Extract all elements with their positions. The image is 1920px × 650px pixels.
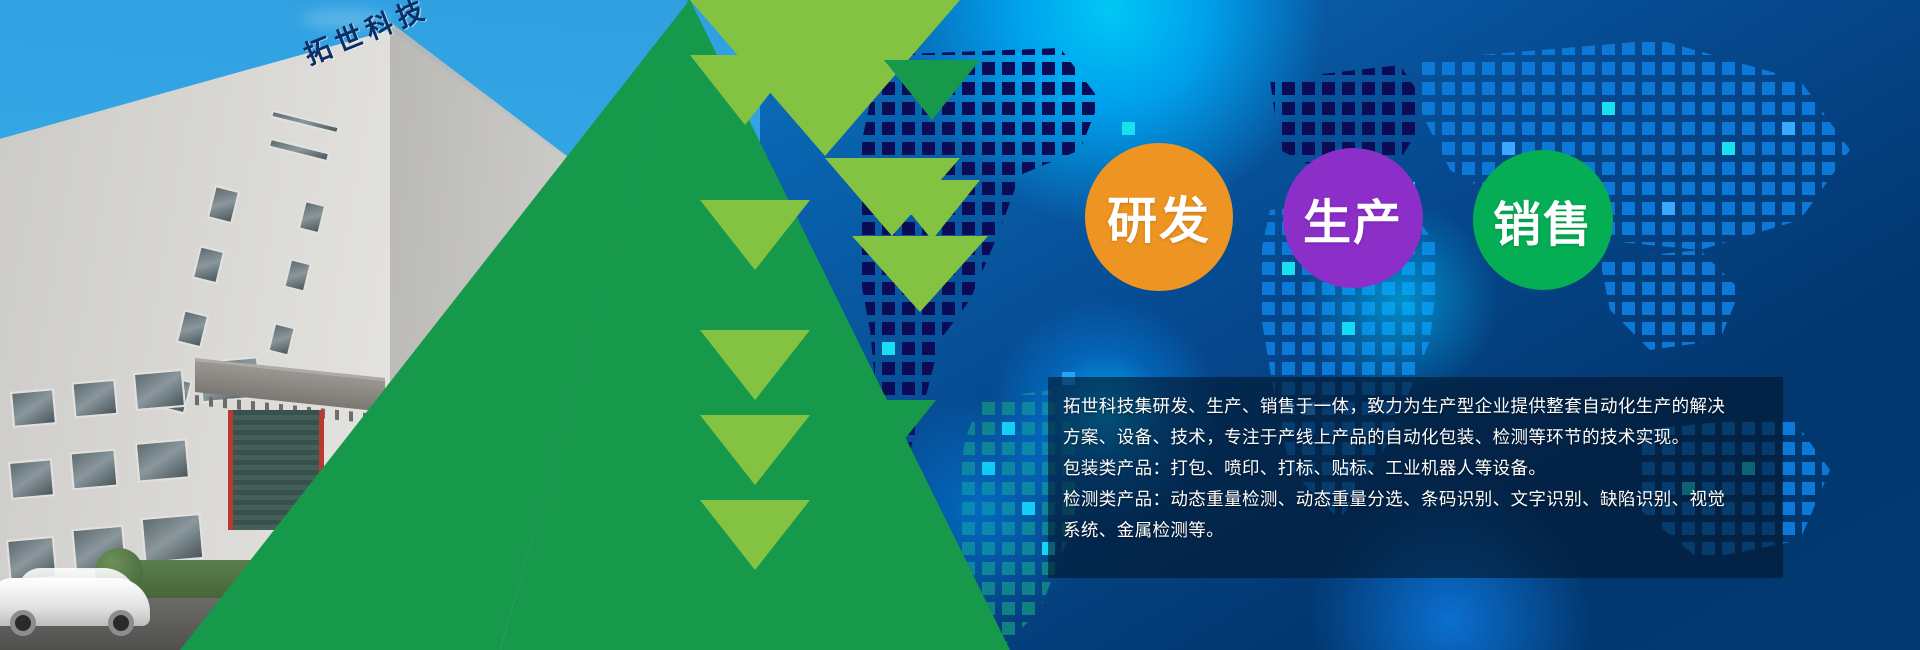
description-line-4: 检测类产品：动态重量检测、动态重量分选、条码识别、文字识别、缺陷识别、视觉	[1063, 485, 1783, 516]
description-line-3: 包装类产品：打包、喷印、打标、贴标、工业机器人等设备。	[1063, 454, 1783, 485]
description-line-2: 方案、设备、技术，专注于产线上产品的自动化包装、检测等环节的技术实现。	[1063, 423, 1783, 454]
roller-shutter-door	[228, 410, 324, 530]
factory-photo: 拓世科技	[0, 0, 760, 650]
company-banner: 拓世科技	[0, 0, 1920, 650]
car-wheel	[10, 610, 36, 636]
description-text: 拓世科技集研发、生产、销售于一体，致力为生产型企业提供整套自动化生产的解决 方案…	[1063, 392, 1783, 547]
badge-production-label: 生产	[1303, 183, 1403, 253]
car-wheel	[108, 610, 134, 636]
badge-sales[interactable]: 销售	[1473, 150, 1613, 290]
badge-rd[interactable]: 研发	[1085, 143, 1233, 291]
description-line-5: 系统、金属检测等。	[1063, 516, 1783, 547]
badge-sales-label: 销售	[1493, 185, 1593, 255]
badge-production[interactable]: 生产	[1283, 148, 1423, 288]
description-line-1: 拓世科技集研发、生产、销售于一体，致力为生产型企业提供整套自动化生产的解决	[1063, 392, 1783, 423]
badge-rd-label: 研发	[1107, 181, 1211, 253]
